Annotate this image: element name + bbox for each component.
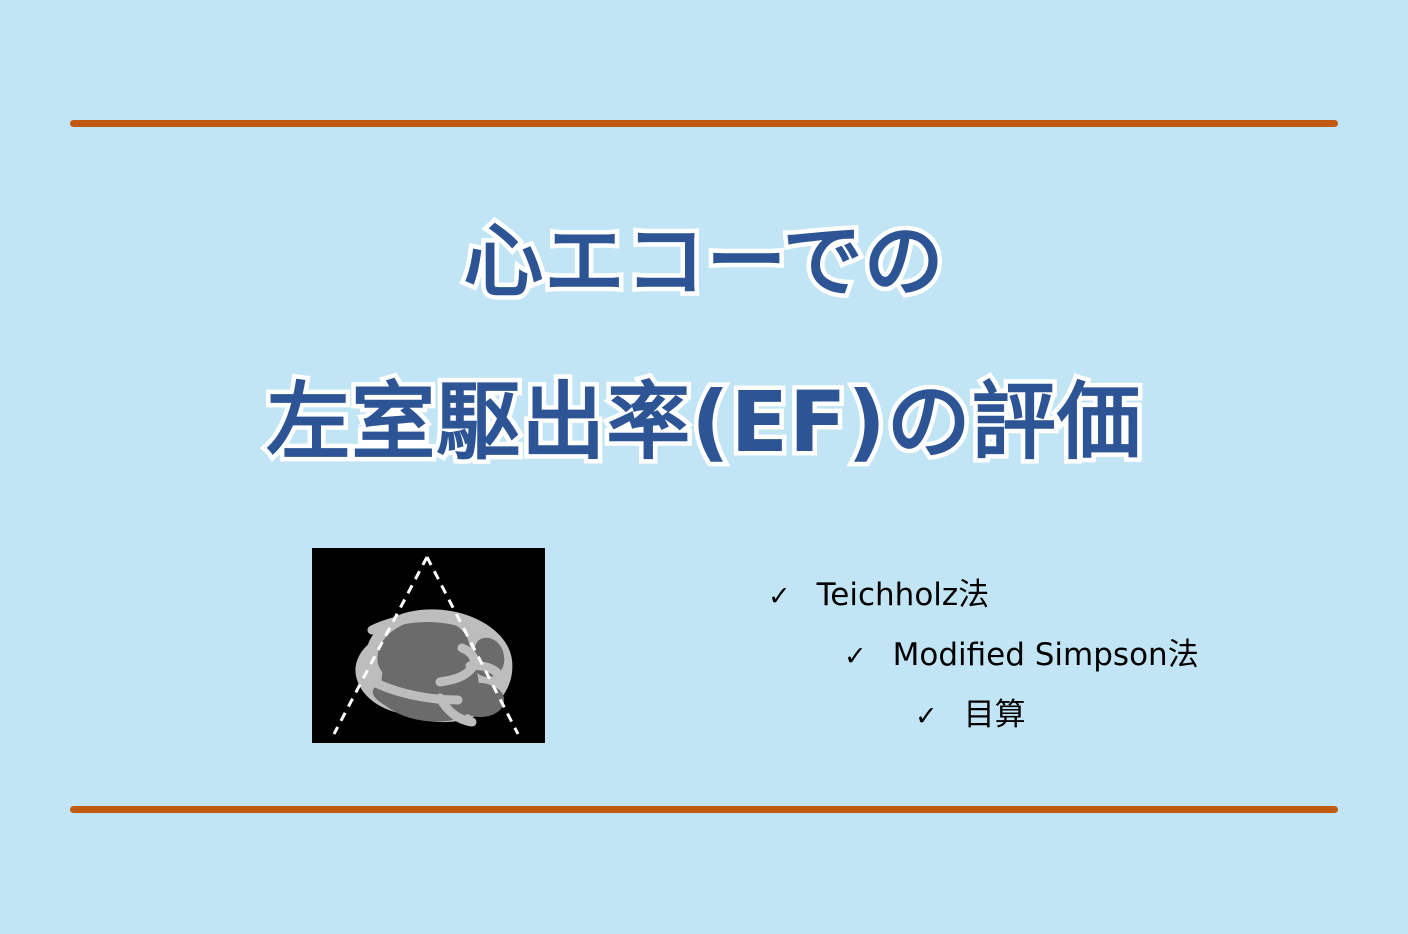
list-item[interactable]: ✓ 目算 bbox=[915, 686, 1300, 746]
title-line-1: 心エコーでの bbox=[0, 182, 1408, 342]
list-item[interactable]: ✓ Teichholz法 bbox=[768, 566, 1300, 626]
bottom-divider-rule bbox=[70, 806, 1338, 813]
method-list: ✓ Teichholz法 ✓ Modified Simpson法 ✓ 目算 bbox=[740, 566, 1300, 746]
check-icon: ✓ bbox=[844, 628, 867, 686]
check-icon: ✓ bbox=[915, 688, 938, 746]
echo-illustration bbox=[312, 548, 545, 743]
echocardiogram-image bbox=[312, 548, 545, 743]
list-item-label: Modified Simpson法 bbox=[893, 626, 1199, 684]
top-divider-rule bbox=[70, 120, 1338, 127]
list-item-label: 目算 bbox=[964, 686, 1026, 744]
page-title: 心エコーでの 左室駆出率(EF)の評価 bbox=[0, 182, 1408, 502]
check-icon: ✓ bbox=[768, 568, 791, 626]
list-item[interactable]: ✓ Modified Simpson法 bbox=[844, 626, 1300, 686]
title-line-2: 左室駆出率(EF)の評価 bbox=[0, 342, 1408, 502]
list-item-label: Teichholz法 bbox=[817, 566, 990, 624]
slide-canvas: 心エコーでの 左室駆出率(EF)の評価 bbox=[0, 0, 1408, 934]
